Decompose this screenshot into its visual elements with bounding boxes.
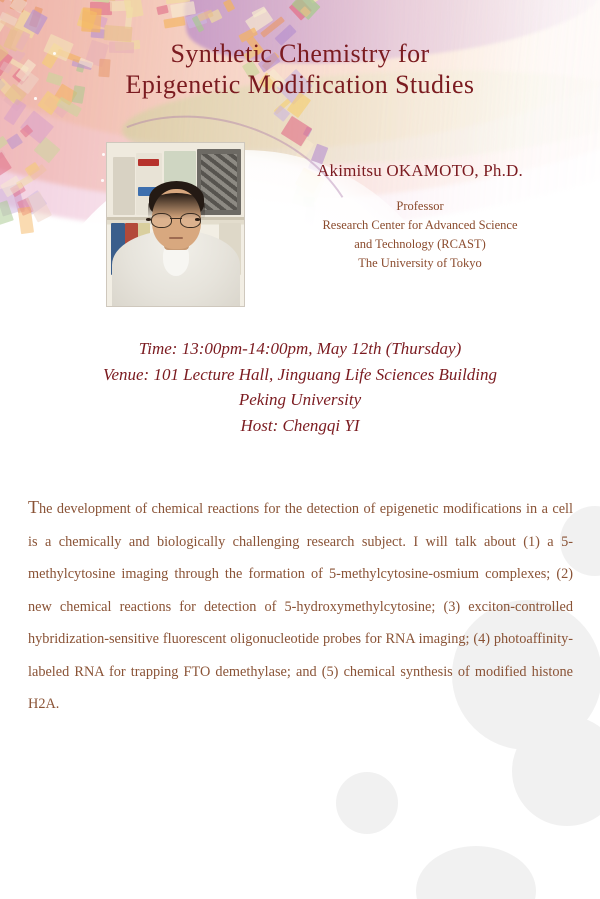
page-title: Synthetic Chemistry for Epigenetic Modif… — [0, 38, 600, 100]
background-mosaic-tile — [29, 164, 47, 181]
speaker-affiliation: Professor Research Center for Advanced S… — [250, 197, 590, 273]
title-line-2: Epigenetic Modification Studies — [0, 69, 600, 100]
background-mosaic-tile — [272, 284, 284, 298]
affiliation-line-3: and Technology (RCAST) — [250, 235, 590, 254]
background-mosaic-tile — [274, 105, 291, 122]
background-mosaic-tile — [270, 279, 287, 301]
background-mosaic-tile — [0, 12, 18, 30]
background-mosaic-tile — [191, 15, 204, 32]
background-sparkle — [62, 248, 64, 250]
background-mosaic-tile — [16, 175, 33, 189]
background-mosaic-tile — [281, 115, 313, 146]
background-mosaic-tile — [3, 99, 27, 126]
photo-person-eye-right — [195, 218, 200, 221]
affiliation-line-2: Research Center for Advanced Science — [250, 216, 590, 235]
background-sparkle — [101, 179, 104, 182]
background-mosaic-tile — [275, 283, 296, 305]
abstract-dropcap: T — [28, 497, 39, 517]
background-mosaic-tile — [292, 304, 320, 329]
background-mosaic-tile — [0, 12, 18, 26]
abstract-text: The development of chemical reactions fo… — [28, 493, 573, 721]
event-institution: Peking University — [0, 387, 600, 413]
background-mosaic-tile — [250, 289, 265, 303]
background-mosaic-tile — [170, 1, 196, 18]
glasses-lens-right — [180, 213, 201, 228]
background-mosaic-tile — [109, 0, 130, 11]
background-mosaic-tile — [20, 124, 34, 137]
background-mosaic-tile — [12, 187, 25, 213]
background-mosaic-tile — [200, 9, 211, 20]
background-mosaic-tile — [303, 127, 312, 137]
affiliation-line-4: The University of Tokyo — [250, 254, 590, 273]
background-mosaic-tile — [208, 8, 224, 23]
event-details: Time: 13:00pm-14:00pm, May 12th (Thursda… — [0, 336, 600, 438]
background-mosaic-tile — [123, 0, 143, 18]
background-mosaic-tile — [22, 190, 48, 215]
background-mosaic-tile — [0, 151, 11, 180]
background-mosaic-tile — [283, 296, 304, 324]
background-mosaic-tile — [0, 0, 26, 3]
background-mosaic-tile — [10, 0, 29, 13]
speaker-photo — [106, 142, 245, 307]
background-mosaic-tile — [291, 0, 320, 20]
background-mosaic-tile — [0, 135, 8, 154]
background-mosaic-tile — [6, 133, 23, 150]
background-mosaic-tile — [273, 275, 288, 288]
background-mosaic-tile — [124, 6, 133, 28]
background-mosaic-tile — [0, 184, 25, 217]
background-mosaic-tile — [10, 182, 26, 197]
background-mosaic-tile — [90, 28, 104, 38]
speaker-name: Akimitsu OKAMOTO, Ph.D. — [250, 161, 590, 181]
background-mosaic-tile — [164, 17, 186, 29]
event-host: Host: Chengqi YI — [0, 413, 600, 439]
background-mosaic-tile — [33, 137, 60, 164]
background-mosaic-tile — [25, 162, 39, 176]
seminar-poster: Synthetic Chemistry for Epigenetic Modif… — [0, 0, 600, 899]
affiliation-line-1: Professor — [250, 197, 590, 216]
background-mosaic-tile — [92, 0, 111, 3]
background-mosaic-tile — [197, 9, 214, 21]
photo-person-eye-left — [146, 218, 151, 221]
background-mosaic-tile — [90, 2, 112, 16]
background-mosaic-tile — [245, 8, 273, 34]
background-mosaic-tile — [9, 0, 27, 13]
background-mosaic-tile — [13, 10, 42, 39]
background-mosaic-tile — [300, 0, 327, 4]
photo-person-glasses — [151, 213, 201, 226]
glasses-lens-left — [151, 213, 172, 228]
background-mosaic-tile — [288, 0, 311, 21]
background-mosaic-tile — [76, 8, 97, 30]
background-mosaic-tile — [273, 98, 290, 114]
background-mosaic-tile — [260, 16, 285, 38]
background-mosaic-tile — [25, 162, 41, 177]
background-mosaic-tile — [0, 0, 12, 2]
glasses-bridge — [170, 218, 182, 219]
background-mosaic-tile — [80, 10, 108, 27]
photo-frame-image — [201, 154, 237, 210]
background-mosaic-tile — [17, 197, 34, 216]
background-mosaic-tile — [222, 0, 234, 12]
photo-person-mouth — [169, 237, 183, 239]
event-time: Time: 13:00pm-14:00pm, May 12th (Thursda… — [0, 336, 600, 362]
background-mosaic-tile — [0, 176, 23, 198]
background-mosaic-tile — [0, 16, 6, 35]
background-mosaic-tile — [29, 6, 43, 27]
background-mosaic-tile — [0, 150, 5, 168]
background-mosaic-tile — [294, 307, 316, 332]
abstract-body: he development of chemical reactions for… — [28, 501, 573, 712]
background-mosaic-tile — [23, 9, 48, 35]
background-mosaic-tile — [0, 200, 14, 227]
background-mosaic-tile — [185, 11, 207, 29]
background-mosaic-tile — [19, 110, 53, 143]
background-decoration — [0, 0, 600, 899]
background-mosaic-tile — [273, 278, 295, 305]
background-mosaic-tile — [299, 6, 311, 18]
event-venue: Venue: 101 Lecture Hall, Jinguang Life S… — [0, 362, 600, 388]
background-mosaic-tile — [276, 291, 301, 315]
background-mosaic-tile — [302, 278, 327, 291]
background-mosaic-tile — [96, 0, 116, 1]
background-mosaic-tile — [164, 0, 191, 4]
background-mosaic-tile — [251, 6, 266, 17]
background-mosaic-tile — [81, 8, 102, 33]
footer: 北京大学 PEKING UNIVERSITY 生命科学联合中心 CENTER F… — [0, 770, 600, 899]
background-sparkle — [102, 153, 105, 156]
photo-book — [113, 157, 135, 215]
background-mosaic-tile — [18, 206, 34, 233]
background-mosaic-tile — [156, 5, 168, 15]
background-mosaic-tile — [295, 139, 314, 161]
title-line-1: Synthetic Chemistry for — [170, 39, 429, 68]
photo-book-accent — [138, 159, 159, 166]
background-mosaic-tile — [25, 192, 52, 224]
